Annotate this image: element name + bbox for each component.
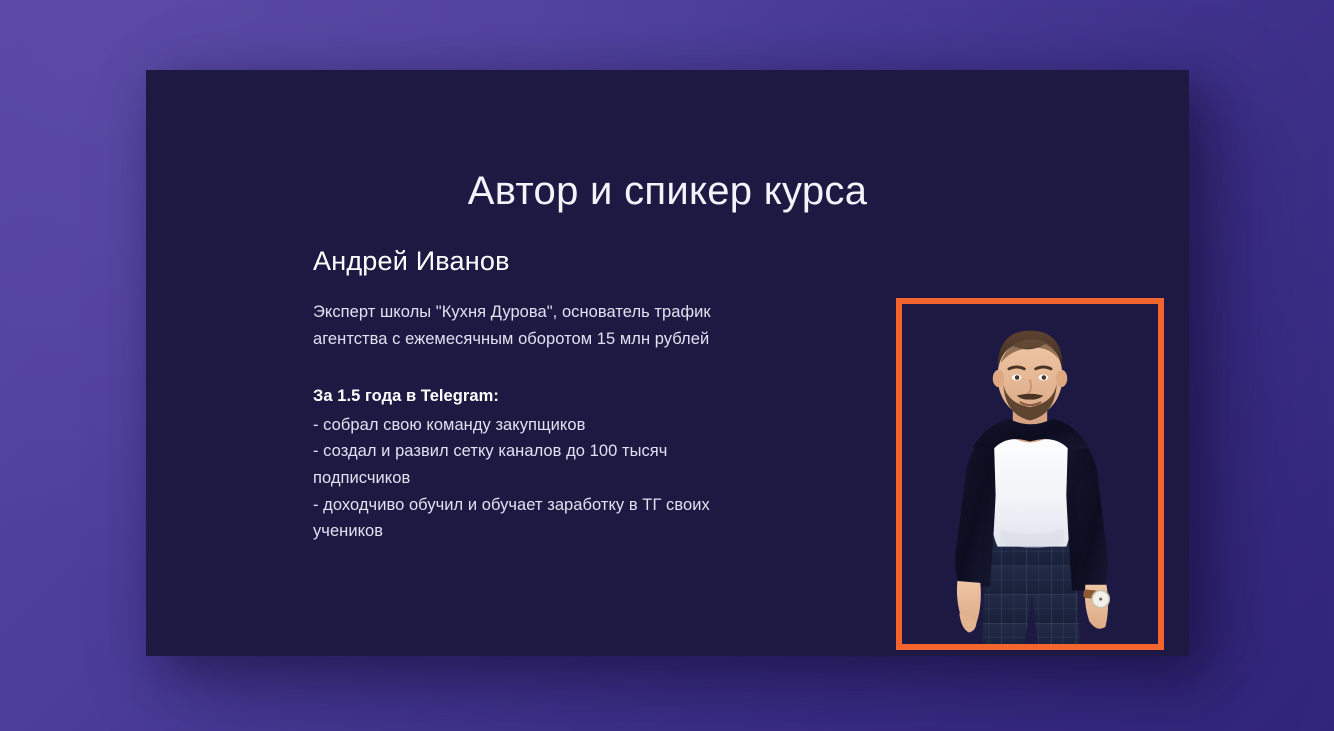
achievements-heading: За 1.5 года в Telegram: xyxy=(313,383,738,410)
speaker-portrait-illustration xyxy=(902,304,1158,644)
achievement-item: - доходчиво обучил и обучает заработку в… xyxy=(313,492,738,545)
speaker-bio: Эксперт школы "Кухня Дурова", основатель… xyxy=(313,299,738,352)
slide-card: Автор и спикер курса Андрей Иванов Экспе… xyxy=(146,70,1189,656)
achievement-item: - собрал свою команду закупщиков xyxy=(313,412,738,439)
speaker-photo xyxy=(902,304,1158,644)
slide-background: Автор и спикер курса Андрей Иванов Экспе… xyxy=(0,0,1334,731)
speaker-name: Андрей Иванов xyxy=(313,245,738,277)
speaker-photo-frame xyxy=(896,298,1164,650)
page-title: Автор и спикер курса xyxy=(146,169,1189,213)
achievement-item: - создал и развил сетку каналов до 100 т… xyxy=(313,438,738,491)
speaker-text-column: Андрей Иванов Эксперт школы "Кухня Дуров… xyxy=(313,245,738,545)
